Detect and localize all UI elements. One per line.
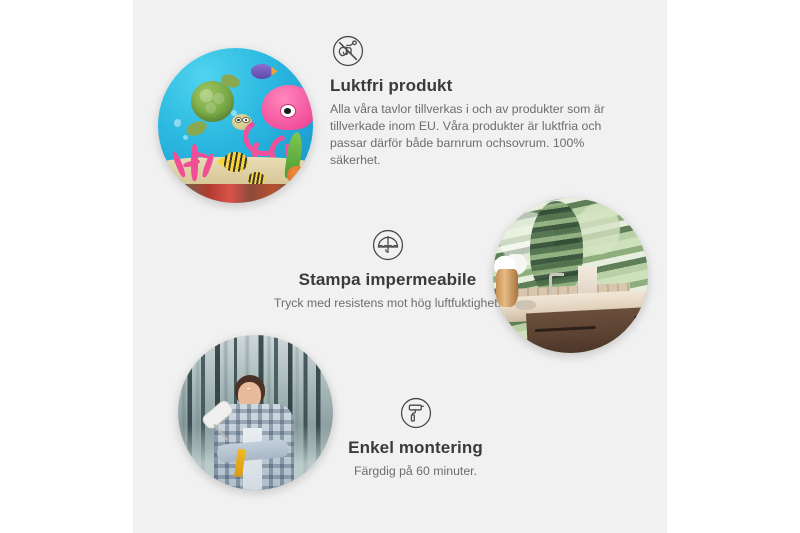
- bubble-icon: [174, 119, 182, 127]
- cabinet-handle: [634, 315, 639, 335]
- coral-icon: [170, 135, 220, 182]
- photo-bottom-strip: [158, 184, 313, 203]
- drawer-line: [535, 325, 596, 331]
- umbrella-icon: [371, 228, 405, 262]
- no-spray-bottle-icon: [331, 34, 365, 68]
- crab-icon: [287, 166, 307, 185]
- feature-body: Alla våra tavlor tillverkas i och av pro…: [330, 101, 628, 169]
- feature-body: Färgdig på 60 minuter.: [308, 463, 523, 480]
- product-photo-underwater-scene[interactable]: [158, 48, 313, 203]
- smile: [247, 388, 250, 389]
- screenshot-root: Luktfri produkt Alla våra tavlor tillver…: [0, 0, 800, 533]
- striped-fish-icon: [223, 152, 248, 172]
- woman-figure: [212, 375, 296, 490]
- octopus-icon: [245, 85, 313, 166]
- wooden-vanity-cabinet: [526, 306, 648, 353]
- turtle-shell: [191, 81, 234, 122]
- feature-body: Tryck med resistens mot hög luftfuktighe…: [215, 295, 560, 312]
- feature-title: Enkel montering: [308, 438, 523, 458]
- feature-title: Stampa impermeabile: [215, 270, 560, 290]
- feature-block-odor-free: Luktfri produkt Alla våra tavlor tillver…: [330, 34, 628, 169]
- feature-block-waterproof: Stampa impermeabile Tryck med resistens …: [215, 228, 560, 312]
- purple-fish-icon: [251, 64, 273, 80]
- sea-turtle-icon: [186, 79, 248, 132]
- octopus-head: [262, 85, 313, 130]
- feature-block-easy-mounting: Enkel montering Färgdig på 60 minuter.: [308, 396, 523, 480]
- promo-panel: Luktfri produkt Alla våra tavlor tillver…: [133, 0, 667, 533]
- paint-roller-icon: [399, 396, 433, 430]
- feature-title: Luktfri produkt: [330, 76, 628, 96]
- underwater-scene-art: [158, 48, 313, 203]
- octopus-eye: [280, 104, 296, 118]
